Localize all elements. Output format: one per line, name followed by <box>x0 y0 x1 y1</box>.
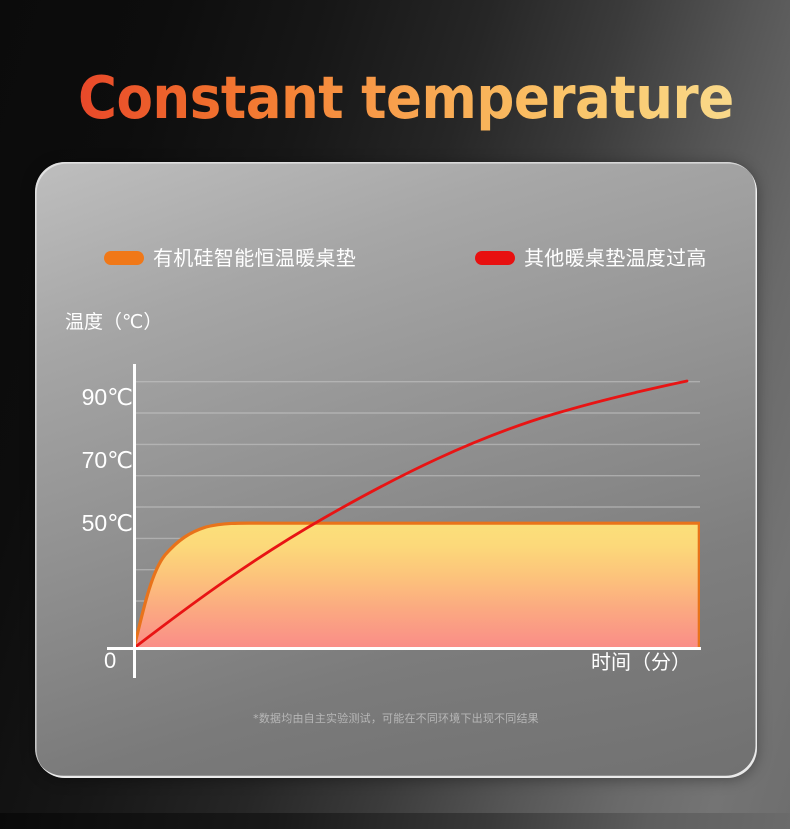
legend-item-constant: 有机硅智能恒温暖桌垫 <box>104 244 356 272</box>
page-title: Constant temperature <box>78 62 734 134</box>
chart-legend: 有机硅智能恒温暖桌垫 其他暖桌垫温度过高 <box>72 244 732 272</box>
y-axis-title: 温度（℃） <box>65 310 162 334</box>
chart-svg <box>134 366 700 648</box>
legend-label-other: 其他暖桌垫温度过高 <box>524 246 707 270</box>
y-tick-90: 90℃ <box>82 384 133 410</box>
y-axis-line <box>133 364 136 678</box>
y-tick-70: 70℃ <box>82 447 133 473</box>
legend-label-constant: 有机硅智能恒温暖桌垫 <box>153 246 356 270</box>
chart-plot-area <box>134 366 700 648</box>
legend-swatch-constant-icon <box>104 251 144 265</box>
promo-page: Constant temperature 有机硅智能恒温暖桌垫 其他暖桌垫温度过… <box>0 0 790 829</box>
legend-item-other: 其他暖桌垫温度过高 <box>475 244 707 272</box>
axis-origin-label: 0 <box>104 647 116 675</box>
x-axis-title: 时间（分） <box>591 649 691 675</box>
legend-swatch-other-icon <box>475 251 515 265</box>
y-axis-tick-labels: 90℃ 70℃ 50℃ <box>55 362 133 652</box>
chart-card: 有机硅智能恒温暖桌垫 其他暖桌垫温度过高 温度（℃） 90℃ 70℃ 50℃ <box>35 162 757 778</box>
y-tick-50: 50℃ <box>82 510 133 536</box>
chart-footnote: *数据均由自主实验测试，可能在不同环境下出现不同结果 <box>35 711 757 727</box>
